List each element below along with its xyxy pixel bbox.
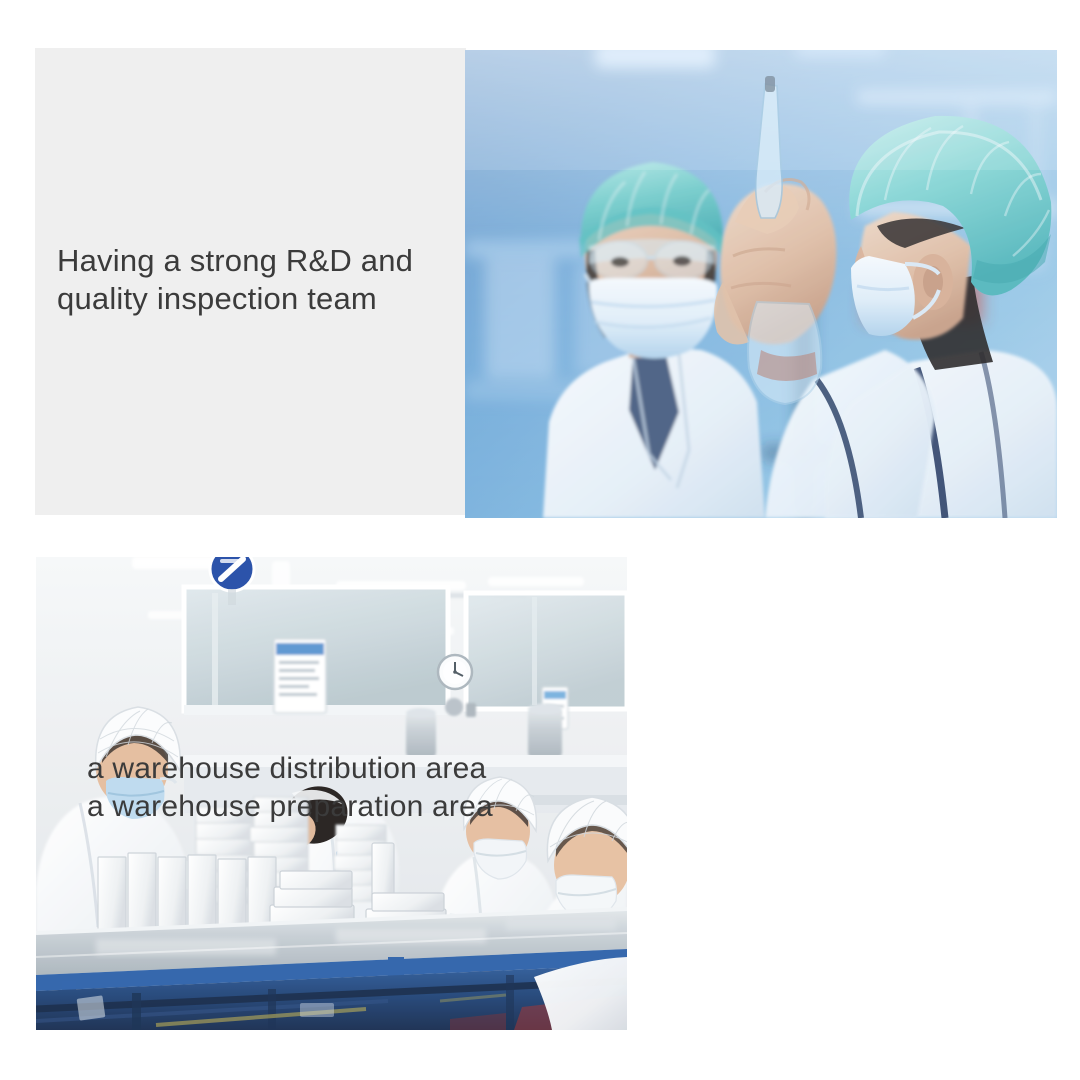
top-caption: Having a strong R&D and quality inspecti… [57,242,457,318]
top-caption-line-1: Having a strong R&D and [57,242,457,280]
lab-inspection-photo [465,50,1057,518]
top-caption-line-2: quality inspection team [57,280,457,318]
bottom-caption-line-2: a warehouse preparation area [87,788,487,826]
bottom-caption-line-1: a warehouse distribution area [87,750,487,788]
bottom-section: a warehouse distribution area a warehous… [36,557,1050,1030]
poster-root: Having a strong R&D and quality inspecti… [0,0,1080,1080]
lab-inspection-illustration [465,50,1057,518]
top-section: Having a strong R&D and quality inspecti… [35,48,1057,518]
bottom-caption: a warehouse distribution area a warehous… [87,750,487,826]
